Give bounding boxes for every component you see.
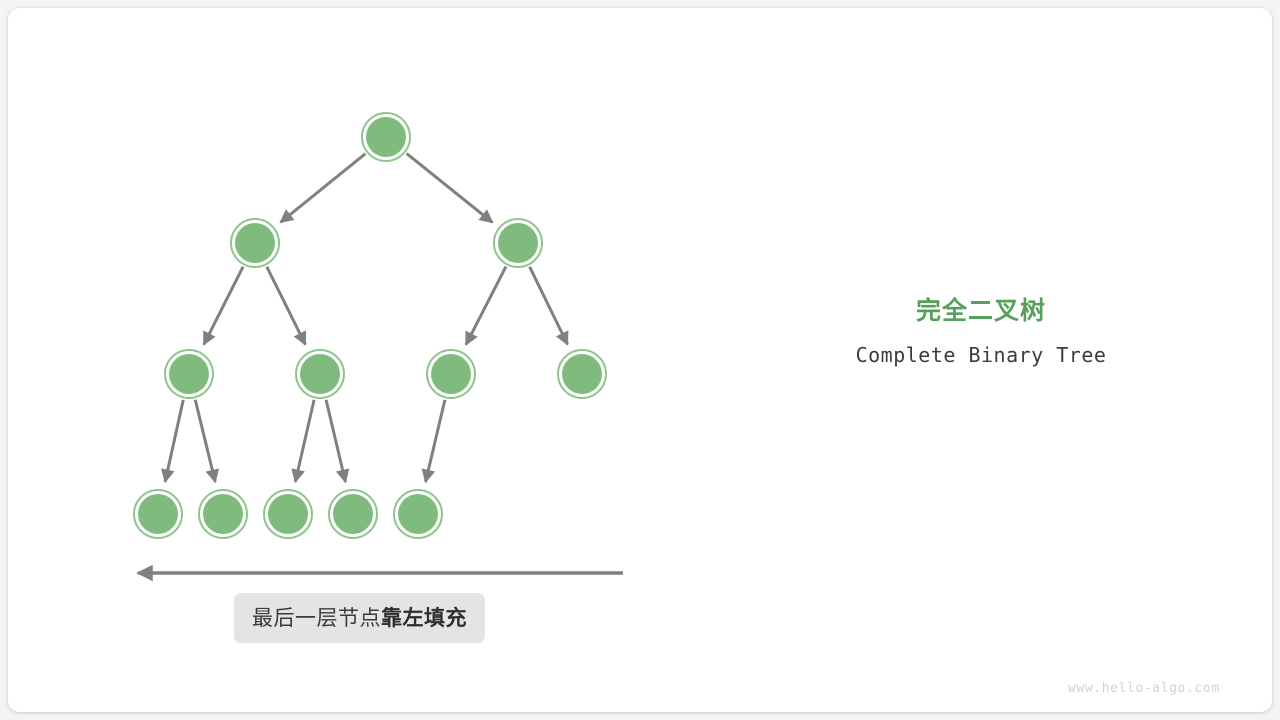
tree-edge-layer [165,154,567,482]
tree-edge [204,267,243,345]
legend-block: 完全二叉树 Complete Binary Tree [836,296,1126,368]
tree-node[interactable] [394,490,442,538]
tree-node-core [333,494,373,534]
tree-node-core [431,354,471,394]
diagram-card: 完全二叉树 Complete Binary Tree 最后一层节点靠左填充 ww… [8,8,1272,712]
tree-node-core [268,494,308,534]
tree-edge [530,267,568,345]
caption-normal-text: 最后一层节点 [252,607,381,630]
fill-direction-caption: 最后一层节点靠左填充 [234,593,485,643]
tree-edge [281,154,366,223]
tree-node[interactable] [231,219,279,267]
tree-node[interactable] [264,490,312,538]
diagram-title-en: Complete Binary Tree [836,342,1126,368]
tree-node-core [398,494,438,534]
diagram-title-cn: 完全二叉树 [836,296,1126,326]
tree-node-core [138,494,178,534]
tree-edge [165,400,183,482]
tree-node[interactable] [134,490,182,538]
tree-edge [326,400,345,482]
tree-node[interactable] [329,490,377,538]
tree-edge [267,267,306,345]
tree-edge [407,154,493,223]
tree-node-core [366,117,406,157]
tree-node[interactable] [427,350,475,398]
tree-node[interactable] [362,113,410,161]
tree-edge [466,267,506,345]
tree-node[interactable] [558,350,606,398]
tree-node-core [562,354,602,394]
tree-node-core [300,354,340,394]
tree-node-core [498,223,538,263]
tree-node-core [203,494,243,534]
watermark: www.hello-algo.com [1068,681,1220,696]
tree-node[interactable] [494,219,542,267]
tree-node-layer [134,113,606,538]
screenshot-stage: 完全二叉树 Complete Binary Tree 最后一层节点靠左填充 ww… [0,0,1280,720]
tree-node[interactable] [296,350,344,398]
tree-node[interactable] [199,490,247,538]
tree-edge [195,400,215,482]
tree-edge [426,400,445,482]
caption-bold-text: 靠左填充 [381,607,467,630]
tree-node[interactable] [165,350,213,398]
tree-edge [295,400,314,482]
tree-node-core [235,223,275,263]
tree-node-core [169,354,209,394]
